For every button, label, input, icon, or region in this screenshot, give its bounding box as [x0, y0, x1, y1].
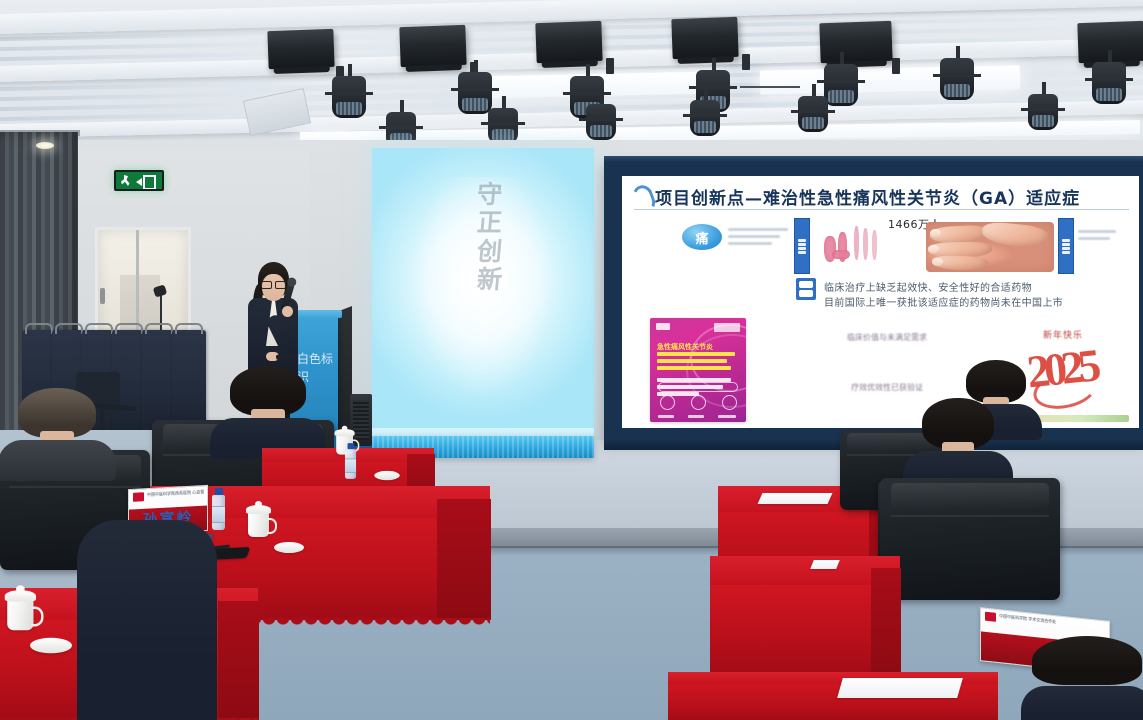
- org-logo-icon: [133, 492, 144, 502]
- stage-light-box: [671, 17, 738, 59]
- par-can-light: [586, 104, 616, 140]
- tab-disease-burden: [794, 218, 810, 274]
- eyeglasses-icon: [261, 281, 286, 287]
- document[interactable]: [810, 560, 840, 569]
- gout-hand-photo: [926, 222, 1054, 272]
- stage-light-box: [535, 21, 602, 63]
- par-can-light: [1028, 94, 1058, 130]
- table-row: [710, 556, 900, 676]
- pain-badge-label: 痛: [695, 228, 708, 247]
- swirl-logo-icon: [634, 185, 648, 207]
- door-handle[interactable]: [100, 288, 105, 304]
- audience-chair[interactable]: [880, 478, 1060, 600]
- ceiling: [0, 0, 1143, 152]
- led-screen: 项目创新点—难治性急性痛风性关节炎（GA）适应症 痛: [604, 162, 1143, 442]
- audience-member: [92, 520, 202, 720]
- poster-title-zh: 急性痛风性关节炎: [657, 342, 713, 352]
- par-can-light: [458, 72, 492, 114]
- slide-title-row: 项目创新点—难治性急性痛风性关节炎（GA）适应症: [634, 182, 1133, 210]
- audience-member: [922, 398, 994, 486]
- exit-door-icon: [143, 175, 156, 190]
- gout-joint-illustration: [818, 222, 896, 270]
- slide-row-disease-burden: 痛 1466万人: [648, 214, 1118, 276]
- slide-body-line-2: 目前国际上唯一获批该适应症的药物尚未在中国上市: [824, 294, 1063, 309]
- audience-member: [1032, 636, 1142, 720]
- org-logo-icon: [985, 612, 996, 622]
- par-can-light: [690, 100, 720, 136]
- conference-hall-photo: 守 正 创 新 项目创新点—难治性急性痛风性关节炎（GA）适应症 痛: [0, 0, 1143, 720]
- teacup[interactable]: [246, 503, 272, 537]
- ceiling-downlight: [36, 142, 54, 149]
- water-bottle[interactable]: [212, 488, 225, 530]
- stage-light-box: [819, 21, 892, 63]
- par-can-light: [488, 108, 518, 144]
- calligraphy-char: 新: [476, 268, 503, 294]
- poster-logo-right: [714, 323, 740, 332]
- study-poster: 急性痛风性关节炎: [650, 318, 746, 422]
- artwork-caption: 新年快乐: [1043, 328, 1083, 341]
- saucer[interactable]: [274, 542, 304, 553]
- calligraphy-char: 创: [476, 240, 503, 266]
- presentation-slide: 项目创新点—难治性急性痛风性关节炎（GA）适应症 痛: [622, 176, 1139, 428]
- slide-title-underline: [634, 209, 1129, 210]
- saucer[interactable]: [30, 638, 72, 653]
- calligraphy-banner: 守 正 创 新: [461, 183, 519, 393]
- par-can-light: [824, 64, 858, 106]
- slide-body-line-1: 临床治疗上缺乏起效快、安全性好的合适药物: [824, 279, 1032, 294]
- document[interactable]: [758, 493, 833, 504]
- saucer[interactable]: [374, 471, 400, 480]
- slide-row-unmet-need: 临床治疗上缺乏起效快、安全性好的合适药物 目前国际上唯一获批该适应症的药物尚未在…: [648, 278, 1118, 312]
- name-card-org: 中国中医科学院西苑医院 心血管病中心: [147, 489, 204, 500]
- stage-light-box: [399, 25, 466, 67]
- running-man-icon: [121, 175, 131, 186]
- water-bottle[interactable]: [345, 443, 356, 479]
- par-can-light: [332, 76, 366, 118]
- left-projection-screen: 守 正 创 新: [372, 148, 594, 440]
- par-can-light: [1092, 62, 1126, 104]
- poster-logo-left: [656, 323, 670, 330]
- slide-mid-note-1: 临床价值与未满足需求: [772, 332, 1002, 343]
- slide-title: 项目创新点—难治性急性痛风性关节炎（GA）适应症: [655, 184, 1080, 209]
- calligraphy-char: 守: [476, 183, 503, 209]
- tab-treatment-need: [1058, 218, 1074, 274]
- exit-sign: [114, 170, 164, 191]
- stage-light-box: [267, 29, 334, 69]
- audience-member: [18, 388, 96, 474]
- document-badge-icon: [796, 278, 816, 300]
- par-can-light: [798, 96, 828, 132]
- presenter-hand: [282, 306, 293, 317]
- pain-badge: 痛: [682, 224, 722, 250]
- document[interactable]: [837, 678, 963, 698]
- par-can-light: [940, 58, 974, 100]
- calligraphy-char: 正: [476, 211, 503, 237]
- teacup[interactable]: [5, 588, 38, 631]
- audience-member: [230, 366, 306, 452]
- arrow-icon: [136, 178, 142, 186]
